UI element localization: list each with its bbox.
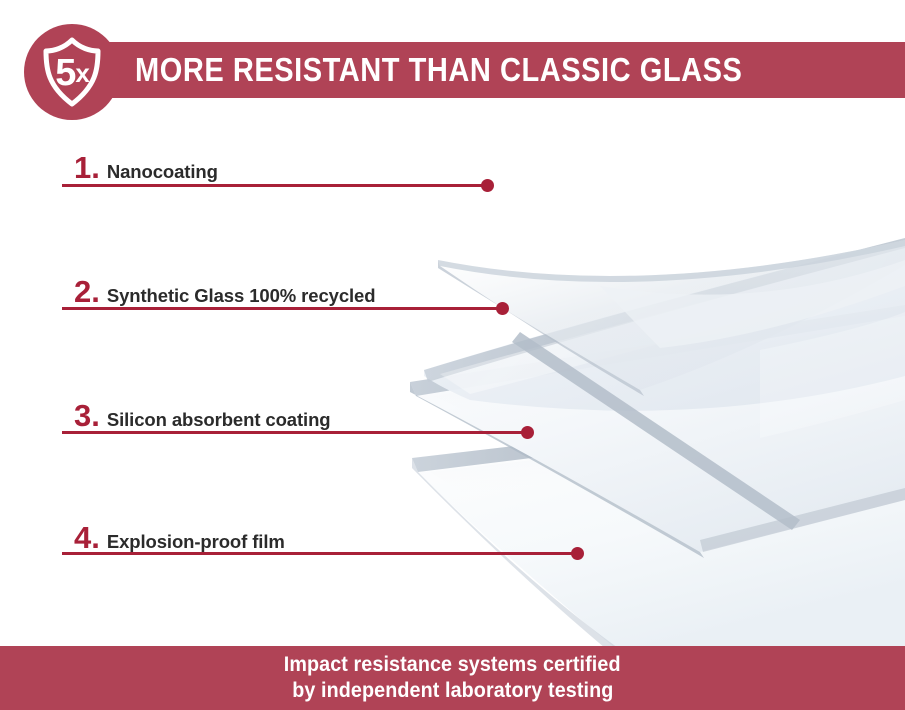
badge-label: 5x [24, 24, 120, 120]
leader-dot-4 [571, 547, 584, 560]
leader-dot-1 [481, 179, 494, 192]
footer-line-1: Impact resistance systems certified [284, 653, 621, 677]
badge-suffix: x [75, 60, 88, 86]
layer-number-3: 3. [74, 400, 100, 431]
leader-dot-2 [496, 302, 509, 315]
leader-line-4 [62, 552, 580, 555]
footer-line-2: by independent laboratory testing [292, 679, 613, 703]
layer-number-1: 1. [74, 152, 100, 183]
footer-banner: Impact resistance systems certified by i… [0, 646, 905, 710]
layer-number-4: 4. [74, 522, 100, 553]
leader-line-2 [62, 307, 505, 310]
layer-number-2: 2. [74, 276, 100, 307]
layer-label-2: 2. Synthetic Glass 100% recycled [60, 276, 375, 307]
leader-line-3 [62, 431, 530, 434]
layer-label-4: 4. Explosion-proof film [60, 522, 285, 553]
layer-text-2: Synthetic Glass 100% recycled [107, 287, 376, 306]
layer-text-3: Silicon absorbent coating [107, 411, 331, 430]
layer-label-1: 1. Nanocoating [60, 152, 218, 183]
layer-text-4: Explosion-proof film [107, 533, 285, 552]
infographic-root: 5x MORE RESISTANT THAN CLASSIC GLASS 1. … [0, 0, 905, 710]
layer-text-1: Nanocoating [107, 163, 218, 182]
leader-line-1 [62, 184, 490, 187]
layer-label-3: 3. Silicon absorbent coating [60, 400, 331, 431]
badge-value: 5 [55, 54, 75, 92]
leader-dot-3 [521, 426, 534, 439]
page-title: MORE RESISTANT THAN CLASSIC GLASS [135, 42, 742, 98]
